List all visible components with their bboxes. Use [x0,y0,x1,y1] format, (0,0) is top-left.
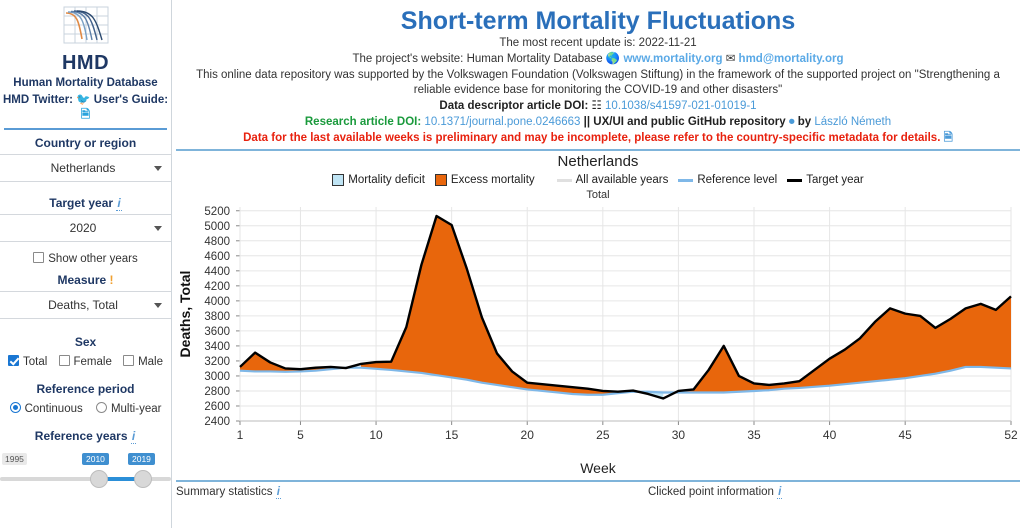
checkbox-box [59,355,70,366]
x-axis-tick: 20 [521,428,535,442]
y-axis-tick: 2400 [204,416,230,428]
guide-label[interactable]: User's Guide: [94,94,168,106]
website-line: The project's website: Human Mortality D… [172,51,1024,67]
document-icon[interactable]: 🗎 [944,132,953,144]
main-panel: Short-term Mortality Fluctuations The mo… [172,0,1024,528]
sex-option-label: Female [74,356,112,368]
footer-bar: Summary statistics i Clicked point infor… [172,482,1024,498]
y-axis-tick: 4600 [204,251,230,263]
org-title: Human Mortality Database [0,77,171,90]
x-axis-tick: 25 [596,428,610,442]
twitter-icon[interactable]: 🐦 [76,94,90,106]
info-icon[interactable]: i [131,429,136,444]
checkbox-box [123,355,134,366]
data-doi-label: Data descriptor article DOI: [439,100,588,112]
country-value: Netherlands [12,161,154,175]
y-axis-tick: 3800 [204,311,230,323]
funding-line: This online data repository was supporte… [172,67,1024,98]
info-icon[interactable]: i [276,486,281,499]
database-icon: ☷ [592,100,602,112]
legend-item-all-available-years[interactable]: All available years [557,174,669,186]
mortality-chart[interactable]: 2400260028003000320034003600380040004200… [172,201,1024,466]
legend-swatch [435,174,447,186]
sex-options: Total Female Male [0,353,171,368]
x-axis-tick: 52 [1004,428,1018,442]
y-axis-tick: 4400 [204,266,230,278]
x-axis-tick: 1 [237,428,244,442]
sex-option-label: Total [23,356,47,368]
legend-label: All available years [576,174,669,186]
sidebar-links: HMD Twitter: 🐦 User's Guide: 🗎 [0,93,171,123]
reference-period-label: Reference period [0,368,171,400]
website-link[interactable]: www.mortality.org [623,53,722,65]
chevron-down-icon [154,166,162,171]
slider-low-label: 2010 [82,453,109,465]
checkbox-box [33,252,44,263]
legend-item-reference-level[interactable]: Reference level [678,174,777,186]
show-other-years-checkbox[interactable]: Show other years [0,242,171,267]
research-doi-label: Research article DOI: [305,116,421,128]
y-axis-tick: 4000 [204,296,230,308]
slider-handle-low[interactable] [90,470,108,488]
sex-label: Sex [0,319,171,353]
target-year-value: 2020 [12,221,154,235]
legend-swatch [332,174,344,186]
sidebar: HMD Human Mortality Database HMD Twitter… [0,0,172,528]
y-axis-tick: 5200 [204,206,230,218]
x-axis-tick: 30 [672,428,686,442]
hmd-logo: HMD [0,0,171,73]
research-doi-line: Research article DOI: 10.1371/journal.po… [172,114,1024,130]
globe-icon: 🌎 [606,53,620,65]
y-axis-tick: 3000 [204,371,230,383]
y-axis-tick: 4200 [204,281,230,293]
y-axis-tick: 3600 [204,326,230,338]
measure-value: Deaths, Total [12,298,154,312]
github-icon[interactable]: ⏺ [789,116,795,128]
slider-handle-high[interactable] [134,470,152,488]
clicked-point-section: Clicked point information i [598,486,1024,498]
legend-item-mortality-deficit[interactable]: Mortality deficit [332,174,425,186]
plot-subtitle: Total [172,186,1024,201]
legend-item-excess-mortality[interactable]: Excess mortality [435,174,535,186]
x-axis-tick: 40 [823,428,837,442]
legend-line [557,179,572,182]
x-axis-tick: 10 [369,428,383,442]
chart-legend: Mortality deficit Excess mortality All a… [172,170,1024,186]
x-axis-tick: 5 [297,428,304,442]
reference-period-multiyear[interactable]: Multi-year [96,403,161,415]
mail-icon: ✉ [726,53,736,65]
target-year-label: Target year i [0,182,171,214]
y-axis-tick: 3200 [204,356,230,368]
reference-period-continuous[interactable]: Continuous [10,403,83,415]
page-title: Short-term Mortality Fluctuations [172,6,1024,36]
reference-period-options: Continuous Multi-year [0,400,171,415]
y-axis-tick: 2800 [204,386,230,398]
measure-select[interactable]: Deaths, Total [0,291,172,319]
x-axis-tick: 45 [898,428,912,442]
reference-period-label-text: Continuous [25,403,83,415]
data-doi-line: Data descriptor article DOI: ☷ 10.1038/s… [172,98,1024,114]
info-icon[interactable]: i [777,486,782,499]
info-icon[interactable]: i [116,196,121,211]
reference-years-label: Reference years i [0,415,171,447]
hmd-logo-icon [51,6,121,50]
sex-option-total[interactable]: Total [8,356,47,368]
website-prefix: The project's website: Human Mortality D… [353,53,603,65]
x-axis-tick: 15 [445,428,459,442]
chart-area-fills [240,216,1011,398]
summary-statistics-section: Summary statistics i [172,486,598,498]
legend-label: Reference level [697,174,777,186]
email-link[interactable]: hmd@mortality.org [739,53,844,65]
reference-years-slider[interactable]: 1995 2010 2019 [0,453,171,499]
clicked-point-label: Clicked point information [648,486,774,498]
y-axis-tick: 2600 [204,401,230,413]
y-axis-tick: 5000 [204,221,230,233]
summary-statistics-label: Summary statistics [176,486,273,498]
checkbox-box [8,355,19,366]
document-icon[interactable]: 🗎 [81,109,90,121]
y-axis-tick: 3400 [204,341,230,353]
country-select[interactable]: Netherlands [0,154,172,182]
chart-svg[interactable]: 2400260028003000320034003600380040004200… [172,201,1021,451]
y-axis-tick: 4800 [204,236,230,248]
reference-period-label-text: Multi-year [111,403,161,415]
legend-label: Excess mortality [451,174,535,186]
legend-item-target-year[interactable]: Target year [787,174,864,186]
country-label: Country or region [0,130,171,154]
hmd-wordmark: HMD [0,53,171,73]
radio-button [10,402,21,413]
author-name: László Németh [814,116,891,128]
author-by: by [798,116,811,128]
sex-option-male[interactable]: Male [123,356,163,368]
repo-text: || UX/UI and public GitHub repository [584,116,786,128]
chart-country-title: Netherlands [172,151,1024,170]
twitter-label: HMD Twitter: [3,94,73,106]
chevron-down-icon [154,226,162,231]
warning-icon[interactable]: ! [110,273,114,287]
research-doi-link[interactable]: 10.1371/journal.pone.0246663 [424,116,580,128]
page-header: Short-term Mortality Fluctuations The mo… [172,0,1024,146]
update-line: The most recent update is: 2022-11-21 [172,36,1024,51]
x-axis-tick: 35 [747,428,761,442]
slider-min-label: 1995 [2,453,27,465]
target-year-select[interactable]: 2020 [0,214,172,242]
measure-label: Measure ! [0,267,171,291]
legend-line [787,179,802,182]
slider-high-label: 2019 [128,453,155,465]
legend-label: Mortality deficit [348,174,425,186]
chevron-down-icon [154,303,162,308]
sex-option-female[interactable]: Female [59,356,112,368]
legend-line [678,179,693,182]
data-doi-link[interactable]: 10.1038/s41597-021-01019-1 [605,100,757,112]
y-axis-label: Deaths, Total [177,271,193,358]
legend-label: Target year [806,174,864,186]
preliminary-warning: Data for the last available weeks is pre… [172,130,1024,146]
radio-button [96,402,107,413]
sex-option-label: Male [138,356,163,368]
show-other-years-label: Show other years [48,253,138,265]
